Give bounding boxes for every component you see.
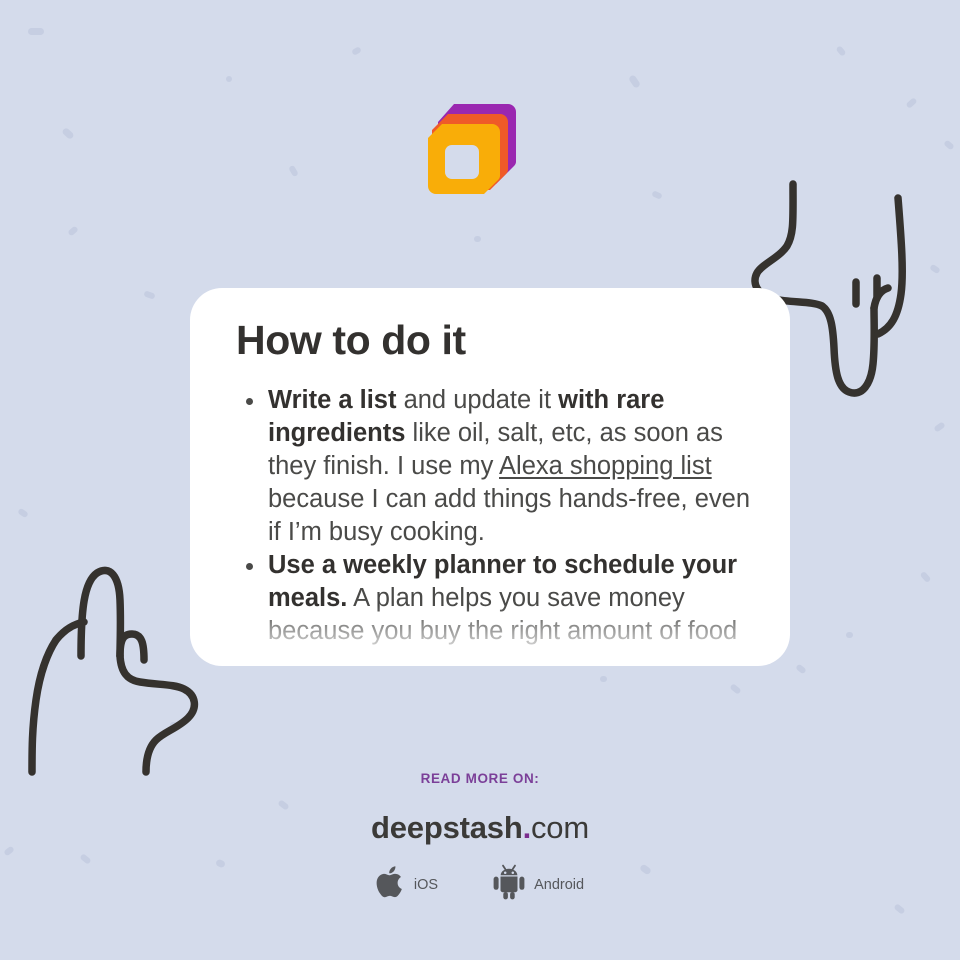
share-card-canvas: How to do it Write a list and update it … [0,0,960,960]
confetti-particle [226,76,232,82]
confetti-particle [61,127,75,140]
brand-url: deepstash.com [0,810,960,846]
brand-tld: com [531,810,589,845]
content-card-inner: How to do it Write a list and update it … [190,288,790,666]
page-title: How to do it [236,318,750,364]
read-more-label: READ MORE ON: [0,771,960,786]
confetti-particle [835,45,846,57]
confetti-particle [651,190,663,200]
confetti-particle [28,28,44,35]
confetti-particle [933,421,945,432]
list-item: Use a weekly planner to schedule your me… [236,549,750,648]
confetti-particle [729,683,741,695]
confetti-particle [143,290,155,299]
confetti-particle [67,225,79,236]
content-card: How to do it Write a list and update it … [190,288,790,666]
ios-label: iOS [414,877,438,893]
brand-name: deepstash [371,810,523,845]
bullet-text-bold: Write a list [268,386,396,414]
bullet-text: and update it [396,386,558,414]
confetti-particle [795,664,807,675]
confetti-particle [3,846,15,857]
apple-icon [376,864,406,905]
confetti-particle [920,571,932,583]
android-icon [492,864,526,905]
confetti-particle [905,97,917,109]
bullet-list: Write a list and update it with rare ing… [236,384,750,648]
pointing-up-hand-illustration [18,560,213,790]
confetti-particle [17,508,29,519]
list-item: Write a list and update it with rare ing… [236,384,750,549]
confetti-particle [846,632,853,638]
confetti-particle [943,139,955,150]
ios-badge[interactable]: iOS [376,864,438,905]
brand-dot: . [523,810,531,845]
android-badge[interactable]: Android [492,864,584,905]
deepstash-logo [428,100,520,196]
confetti-particle [288,165,299,178]
confetti-particle [351,46,362,56]
android-label: Android [534,877,584,893]
confetti-particle [170,722,177,728]
bullet-text: because I can add things hands-free, eve… [268,485,750,546]
confetti-particle [929,264,941,275]
app-store-badges: iOS Android [0,864,960,905]
confetti-particle [600,676,607,682]
confetti-particle [474,236,481,242]
confetti-particle [628,74,641,89]
bullet-text-link[interactable]: Alexa shopping list [499,452,712,480]
